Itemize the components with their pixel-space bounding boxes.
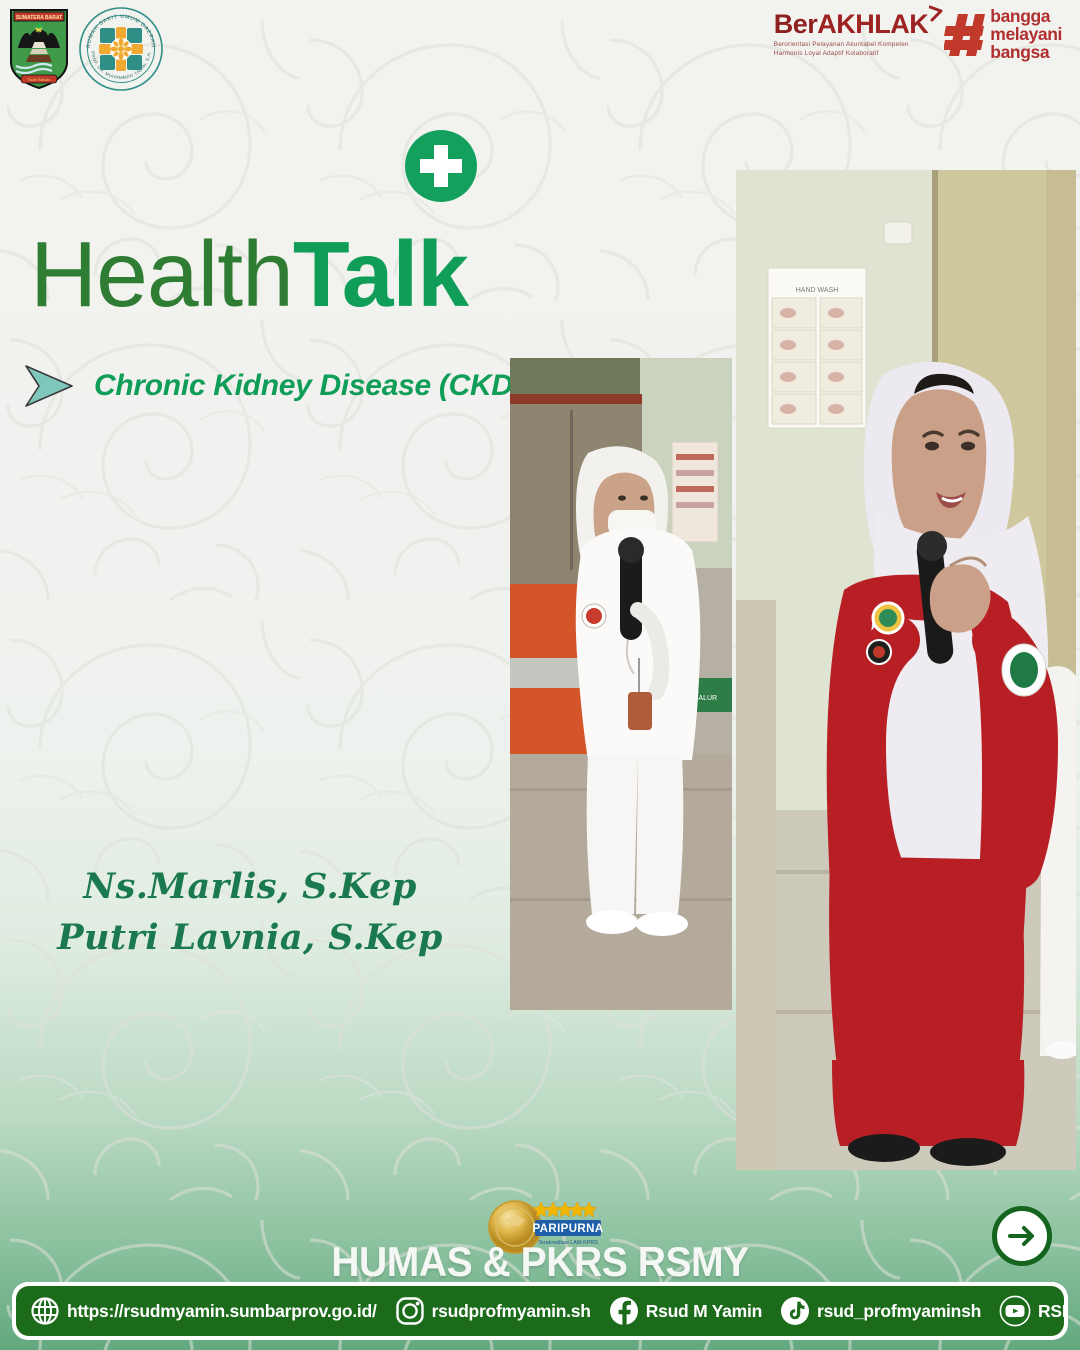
youtube-icon <box>999 1295 1031 1327</box>
social-link-facebook[interactable]: Rsud M Yamin <box>609 1296 762 1326</box>
presenter-name-1: Ns.Marlis, S.Kep <box>0 862 500 913</box>
svg-text:Tuah Sakato: Tuah Sakato <box>28 77 52 82</box>
subtitle-text: Chronic Kidney Disease (CKD) <box>94 369 522 403</box>
tiktok-icon <box>780 1296 810 1326</box>
social-link-website[interactable]: https://rsudmyamin.sumbarprov.go.id/ <box>30 1296 377 1326</box>
svg-text:JALUR: JALUR <box>695 695 717 702</box>
bangga-melayani-bangsa-logo: bangga melayani bangsa <box>944 8 1062 62</box>
social-label-youtube: RSMY OFFICIAL <box>1038 1301 1064 1322</box>
title-health: Health <box>30 222 293 326</box>
social-label-tiktok: rsud_profmyaminsh <box>817 1301 981 1322</box>
berakhlak-tagline-line1: Berorientasi Pelayanan Akuntabel Kompete… <box>774 41 929 50</box>
svg-text:SUMATERA BARAT: SUMATERA BARAT <box>16 15 62 21</box>
page-title: HealthTalk <box>30 228 468 321</box>
social-label-instagram: rsudprofmyamin.sh <box>432 1301 591 1322</box>
berakhlak-wordmark: BerAKHLAK <box>774 11 929 38</box>
social-links-bar: https://rsudmyamin.sumbarprov.go.id/ rsu… <box>16 1286 1064 1336</box>
header-logo-group-left: SUMATERA BARAT Tuah Sakato RUMAH SAKIT U… <box>8 6 164 92</box>
accreditation-label: PARIPURNA <box>532 1223 603 1235</box>
globe-icon <box>30 1296 60 1326</box>
bangga-line2: melayani <box>990 26 1062 44</box>
swipe-next-button[interactable] <box>992 1206 1052 1266</box>
social-label-facebook: Rsud M Yamin <box>646 1301 762 1322</box>
berakhlak-logo: BerAKHLAK Berorientasi Pelayanan Akuntab… <box>774 11 929 58</box>
social-link-instagram[interactable]: rsudprofmyamin.sh <box>395 1296 591 1326</box>
photo-nurse-white-uniform: JALUR <box>510 358 732 1010</box>
header-logo-group-right: BerAKHLAK Berorientasi Pelayanan Akuntab… <box>774 8 1062 62</box>
hashtag-icon <box>944 12 986 58</box>
social-bar-container: https://rsudmyamin.sumbarprov.go.id/ rsu… <box>12 1282 1068 1340</box>
social-link-tiktok[interactable]: rsud_profmyaminsh <box>780 1296 981 1326</box>
social-link-youtube[interactable]: RSMY OFFICIAL <box>999 1295 1064 1327</box>
poster-canvas: SUMATERA BARAT Tuah Sakato RUMAH SAKIT U… <box>0 0 1080 1350</box>
rsud-m-yamin-logo: RUMAH SAKIT UMUM DAERAH PROF. DR. MUHAMM… <box>78 6 164 92</box>
presenter-names: Ns.Marlis, S.Kep Putri Lavnia, S.Kep <box>0 862 500 964</box>
sumatera-barat-coat-of-arms: SUMATERA BARAT Tuah Sakato <box>8 6 70 90</box>
berakhlak-main: AKHLAK <box>817 9 928 39</box>
medical-cross-icon <box>405 130 477 202</box>
photo-speaker-red-uniform: HAND WASH <box>736 170 1076 1170</box>
presenter-name-2: Putri Lavnia, S.Kep <box>0 913 500 964</box>
berakhlak-tagline-line2: Harmonis Loyal Adaptif Kolaboratif <box>774 50 929 59</box>
social-label-website: https://rsudmyamin.sumbarprov.go.id/ <box>67 1301 377 1322</box>
title-talk: Talk <box>293 222 468 326</box>
berakhlak-swoosh-icon <box>929 5 943 23</box>
arrow-right-icon <box>1005 1219 1039 1253</box>
footer-title: HUMAS & PKRS RSMY <box>38 1238 1042 1286</box>
svg-text:HAND WASH: HAND WASH <box>796 287 839 294</box>
subtitle-row: Chronic Kidney Disease (CKD) <box>22 362 522 410</box>
instagram-icon <box>395 1296 425 1326</box>
facebook-icon <box>609 1296 639 1326</box>
arrow-chevron-icon <box>22 362 80 410</box>
bangga-line3: bangsa <box>990 44 1062 62</box>
berakhlak-prefix: Ber <box>774 9 818 39</box>
